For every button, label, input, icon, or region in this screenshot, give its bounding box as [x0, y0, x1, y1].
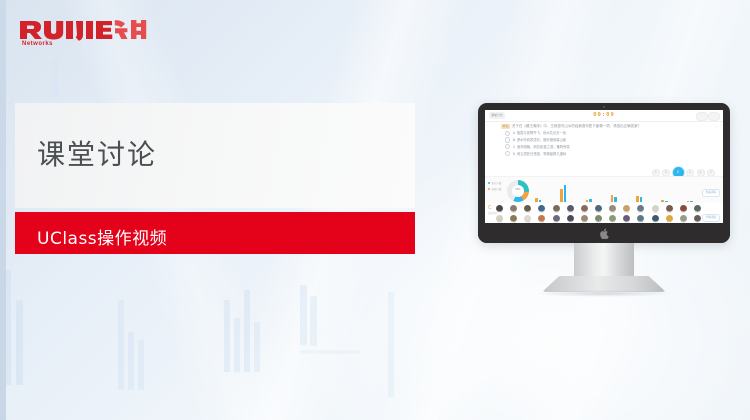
student-avatar[interactable]: 赵 磊 — [581, 205, 588, 215]
chevron-right-icon[interactable]: › — [716, 124, 717, 129]
avatar — [609, 205, 616, 212]
avatar — [581, 205, 588, 212]
radio-icon[interactable] — [505, 144, 510, 149]
watermark-bar — [388, 292, 394, 397]
watermark-bar — [234, 318, 240, 372]
avatar — [510, 205, 517, 212]
page-title: 课堂讨论 — [37, 133, 157, 173]
question-option[interactable]: A. 落霞与孤鹜齐飞，秋水共长天一色 — [505, 131, 713, 136]
apple-logo-icon — [599, 228, 609, 239]
question-option[interactable]: C. 渔舟唱晚，响穷彭蠡之滨；雁阵惊寒 — [505, 144, 713, 149]
bar-wrong — [611, 195, 614, 202]
watermark-bar — [300, 350, 360, 354]
app-topbar: 课堂讨论 00:09 — [485, 110, 723, 122]
watermark-bar — [224, 300, 230, 372]
slide-canvas: Networks 课堂讨论 UClass操作视频 课堂讨论 00:09 — [0, 0, 750, 420]
student-avatar[interactable]: 胡 军 — [680, 205, 687, 215]
bar-wrong — [560, 189, 563, 202]
student-avatar[interactable]: 孙 浩 — [637, 205, 644, 215]
student-avatar[interactable]: 徐 丽 — [623, 205, 630, 215]
question-option[interactable]: D. 闲云潭影日悠悠，物换星移几度秋 — [505, 151, 713, 156]
accuracy-donut-chart: 68% 整体正确率 — [507, 180, 531, 202]
radio-icon[interactable] — [505, 131, 510, 136]
avatar — [666, 205, 673, 212]
bar-correct — [564, 185, 567, 202]
pagination-dots[interactable]: • • • — [485, 219, 723, 222]
question-block: 单选 关于在《滕王阁序》中，王勃描写山水的经典语句是下面哪一项，请选出正确答案？… — [501, 124, 713, 156]
bar-group: 第4题 — [611, 182, 617, 202]
imac-monitor: 课堂讨论 00:09 单选 关于在《滕王阁序》中，王勃描写山水的经典语句是下面哪… — [478, 103, 730, 243]
legend-entry: 答对人数 — [488, 181, 502, 185]
per-question-bar-chart: 第1题第2题第3题第4题第5题第6题第7题 — [535, 180, 693, 202]
legend-color-swatch — [488, 188, 490, 190]
chart-legend: 答对人数 答错人数 — [488, 181, 502, 192]
bar-group: 第2题 — [560, 182, 566, 202]
avatar — [538, 205, 545, 212]
avatar-row-1: 王小明李 娜张 伟刘 洋陈 静杨 帆赵 磊周 敏吴 刚徐 丽孙 浩马 超朱 琳胡… — [496, 205, 701, 215]
avatar — [623, 205, 630, 212]
question-text: 关于在《滕王阁序》中，王勃描写山水的经典语句是下面哪一项，请选出正确答案？ — [512, 124, 641, 129]
avatar — [524, 205, 531, 212]
student-avatar[interactable]: 吴 刚 — [609, 205, 616, 215]
student-avatar[interactable]: 张 伟 — [524, 205, 531, 215]
avatar — [553, 205, 560, 212]
countdown-timer: 00:09 — [485, 112, 723, 119]
avatar — [637, 205, 644, 212]
student-avatar[interactable]: 朱 琳 — [666, 205, 673, 215]
monitor-stand-neck — [574, 243, 634, 278]
bar-group: 第5题 — [636, 182, 642, 202]
left-edge-strip — [0, 0, 6, 420]
donut-center-label: 68% — [507, 188, 529, 191]
watermark-bar — [254, 322, 260, 372]
student-avatar[interactable]: 刘 洋 — [538, 205, 545, 215]
ruijie-logo: Networks — [18, 18, 150, 50]
logo-subtitle: Networks — [22, 41, 53, 47]
student-avatar[interactable]: 陈 静 — [553, 205, 560, 215]
avatar — [680, 205, 687, 212]
student-avatar[interactable]: 马 超 — [652, 205, 659, 215]
question-header: 单选 关于在《滕王阁序》中，王勃描写山水的经典语句是下面哪一项，请选出正确答案？ — [501, 124, 713, 129]
watermark-bar — [128, 332, 134, 390]
bar-group: 第6题 — [661, 182, 667, 202]
option-label: B. 潦水尽而寒潭清，烟光凝而暮山紫 — [513, 138, 566, 142]
topbar-button-collapse[interactable] — [696, 112, 708, 121]
student-avatar[interactable]: 郭 涛 — [694, 205, 701, 215]
student-avatar[interactable]: 周 敏 — [595, 205, 602, 215]
question-type-badge: 单选 — [501, 124, 510, 129]
student-roster-panel: C 班级等级 王小明李 娜张 伟刘 洋陈 静杨 帆赵 磊周 敏吴 刚徐 丽孙 浩… — [485, 203, 723, 223]
watermark-bar — [52, 60, 58, 98]
legend-entry: 答错人数 — [488, 187, 502, 191]
bar-group: 第7题 — [687, 182, 693, 202]
app-screen: 课堂讨论 00:09 单选 关于在《滕王阁序》中，王勃描写山水的经典语句是下面哪… — [485, 110, 723, 223]
watermark-bar — [310, 296, 317, 346]
avatar — [595, 205, 602, 212]
watermark-bar — [118, 300, 124, 390]
option-label: A. 落霞与孤鹜齐飞，秋水共长天一色 — [513, 131, 566, 135]
watermark-bar — [244, 290, 250, 372]
avatar — [652, 205, 659, 212]
avatar — [567, 205, 574, 212]
student-avatar[interactable]: 王小明 — [496, 205, 503, 215]
radio-icon[interactable] — [505, 151, 510, 156]
student-avatar[interactable]: 杨 帆 — [567, 205, 574, 215]
bar-group: 第3题 — [586, 182, 592, 202]
watermark-bar — [16, 300, 23, 385]
question-option[interactable]: B. 潦水尽而寒潭清，烟光凝而暮山紫 — [505, 137, 713, 142]
legend-label: 答错人数 — [492, 187, 502, 191]
student-avatar[interactable]: 李 娜 — [510, 205, 517, 215]
legend-color-swatch — [488, 182, 490, 184]
watermark-bar — [300, 285, 307, 345]
avatar — [694, 205, 701, 212]
monitor-stand-shadow — [534, 290, 674, 297]
watermark-bar — [138, 340, 144, 390]
option-label: D. 闲云潭影日悠悠，物换星移几度秋 — [513, 152, 567, 156]
bar-group: 第1题 — [535, 182, 541, 202]
avatar — [496, 205, 503, 212]
section-banner-label: UClass操作视频 — [37, 224, 167, 249]
statistics-panel: 答对人数 答错人数 68% 整体正确率 第1题第2题第3题第4题第5题第6题第7… — [485, 176, 723, 205]
legend-label: 答对人数 — [492, 181, 502, 185]
option-label: C. 渔舟唱晚，响穷彭蠡之滨；雁阵惊寒 — [513, 145, 570, 149]
webcam-icon — [603, 106, 605, 108]
chart-detail-button[interactable]: 查看详情 — [702, 189, 720, 197]
radio-icon[interactable] — [505, 137, 510, 142]
topbar-button-end[interactable] — [708, 112, 720, 121]
